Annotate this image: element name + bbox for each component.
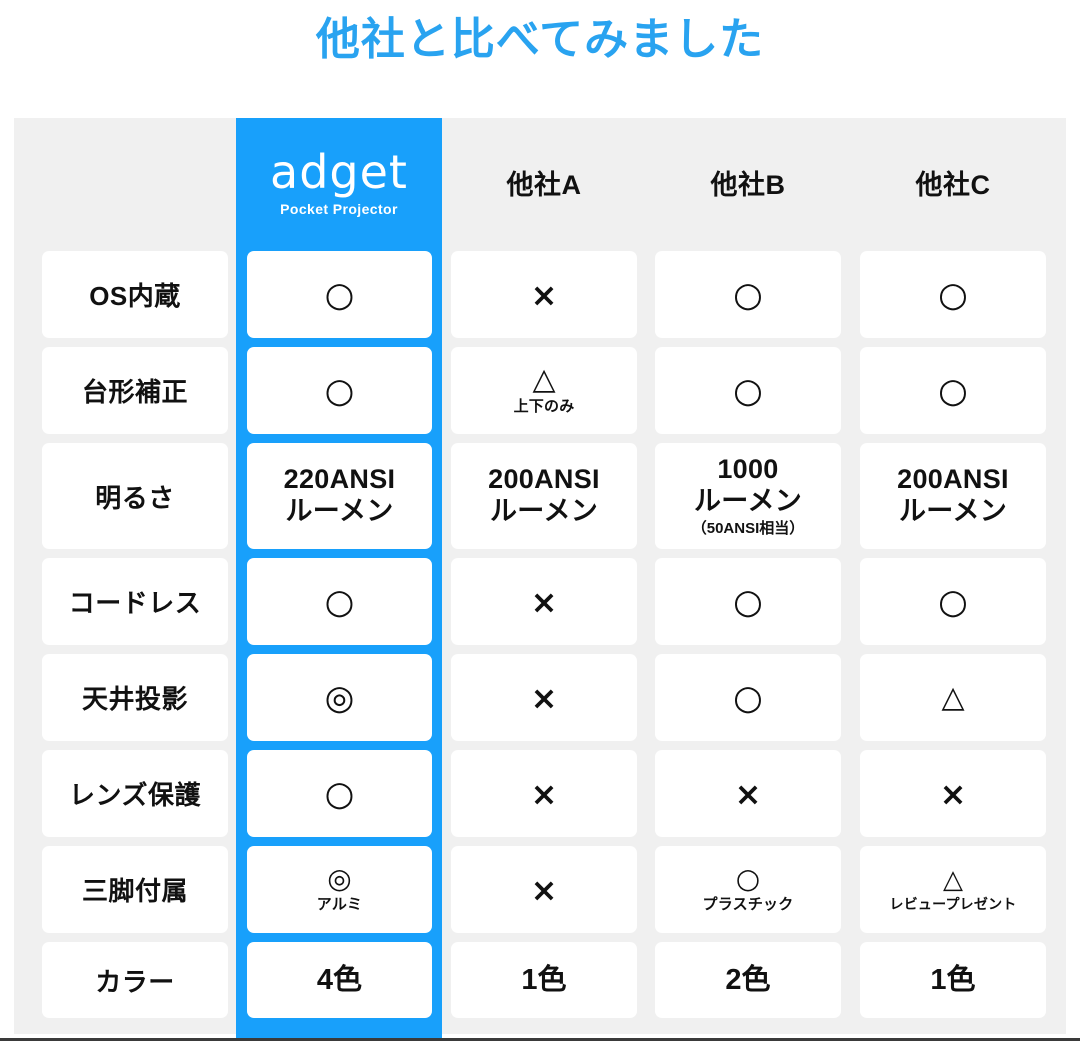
table-cell: × <box>451 251 637 338</box>
status-mark: ○ <box>733 585 763 619</box>
table-cell: × <box>451 846 637 933</box>
row-label: 台形補正 <box>42 347 228 434</box>
cell-value-unit: ルーメン <box>694 486 802 518</box>
table-cell: △ 上下のみ <box>451 347 637 434</box>
cell-value-unit: ルーメン <box>490 496 598 528</box>
table-cell: ◎ <box>247 654 432 741</box>
table-cell: ○ <box>655 654 841 741</box>
status-mark: ○ <box>325 777 355 811</box>
table-cell: 2色 <box>655 942 841 1018</box>
table-cell: △ <box>860 654 1046 741</box>
table-cell: × <box>860 750 1046 837</box>
cell-note: レビュープレゼント <box>890 897 1017 912</box>
table-cell: ○ <box>860 347 1046 434</box>
row-label: OS内蔵 <box>42 251 228 338</box>
status-mark: ○ <box>325 278 355 312</box>
row-label: コードレス <box>42 558 228 645</box>
status-mark: △ <box>943 867 963 893</box>
brand-name: adget <box>270 149 408 195</box>
column-header-competitor-b: 他社B <box>655 118 841 246</box>
status-mark: ○ <box>938 374 968 408</box>
table-cell: ◎ アルミ <box>247 846 432 933</box>
status-mark: × <box>735 778 762 810</box>
cell-value: 4色 <box>317 966 362 995</box>
table-cell: ○ <box>655 251 841 338</box>
status-mark: × <box>940 778 967 810</box>
cell-value: 1色 <box>521 966 566 995</box>
table-cell: 220ANSI ルーメン <box>247 443 432 549</box>
row-label: 明るさ <box>42 443 228 549</box>
table-cell: ○ <box>247 750 432 837</box>
table-cell: ○ <box>247 347 432 434</box>
table-cell: 4色 <box>247 942 432 1018</box>
status-mark: × <box>531 682 558 714</box>
row-label: レンズ保護 <box>42 750 228 837</box>
cell-value-main: 200ANSI <box>488 464 600 496</box>
comparison-grid: adget Pocket Projector 他社A 他社B 他社C OS内蔵 … <box>0 0 1080 1041</box>
status-mark: ○ <box>736 865 760 893</box>
table-cell: ○ <box>860 251 1046 338</box>
table-cell: ○ <box>655 347 841 434</box>
status-mark: × <box>531 778 558 810</box>
table-cell: ○ プラスチック <box>655 846 841 933</box>
status-mark: ○ <box>325 374 355 408</box>
table-cell: 1色 <box>451 942 637 1018</box>
table-cell: 200ANSI ルーメン <box>860 443 1046 549</box>
column-header-competitor-c: 他社C <box>860 118 1046 246</box>
status-mark: △ <box>532 365 555 395</box>
status-mark: × <box>531 586 558 618</box>
table-cell: 200ANSI ルーメン <box>451 443 637 549</box>
status-mark: △ <box>941 683 964 713</box>
cell-value-main: 1000 <box>717 454 778 486</box>
status-mark: × <box>531 279 558 311</box>
table-cell: ○ <box>247 251 432 338</box>
brand-logo: adget Pocket Projector <box>236 118 442 246</box>
status-mark: ○ <box>733 278 763 312</box>
table-cell: ○ <box>247 558 432 645</box>
row-label: カラー <box>42 942 228 1018</box>
cell-value-unit: ルーメン <box>899 496 1007 528</box>
cell-note: 上下のみ <box>514 399 575 416</box>
cell-value-unit: ルーメン <box>285 496 393 528</box>
status-mark: ○ <box>938 278 968 312</box>
table-cell: △ レビュープレゼント <box>860 846 1046 933</box>
column-header-competitor-a: 他社A <box>451 118 637 246</box>
status-mark: × <box>531 874 558 906</box>
status-mark: ◎ <box>327 865 351 893</box>
table-cell: ○ <box>860 558 1046 645</box>
status-mark: ○ <box>733 681 763 715</box>
brand-tagline: Pocket Projector <box>280 202 398 216</box>
cell-note: プラスチック <box>703 897 794 914</box>
table-cell: 1000 ルーメン （50ANSI相当） <box>655 443 841 549</box>
cell-value-main: 220ANSI <box>284 464 396 496</box>
table-cell: × <box>655 750 841 837</box>
status-mark: ○ <box>938 585 968 619</box>
cell-value-main: 200ANSI <box>897 464 1009 496</box>
table-cell: × <box>451 558 637 645</box>
table-cell: × <box>451 654 637 741</box>
row-label: 天井投影 <box>42 654 228 741</box>
table-cell: × <box>451 750 637 837</box>
status-mark: ○ <box>733 374 763 408</box>
cell-value: 1色 <box>930 966 975 995</box>
cell-note: （50ANSI相当） <box>692 520 805 538</box>
status-mark: ◎ <box>325 681 355 715</box>
table-cell: ○ <box>655 558 841 645</box>
row-label: 三脚付属 <box>42 846 228 933</box>
cell-note: アルミ <box>317 897 362 914</box>
status-mark: ○ <box>325 585 355 619</box>
cell-value: 2色 <box>725 966 770 995</box>
table-cell: 1色 <box>860 942 1046 1018</box>
